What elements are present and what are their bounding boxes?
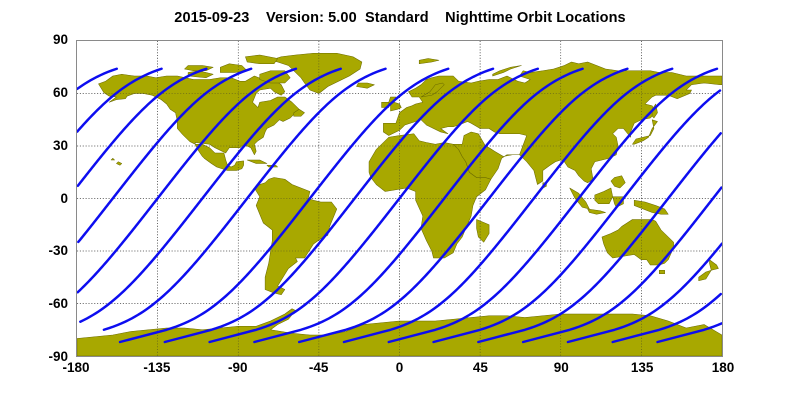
land-cuba [247,160,267,164]
land-iceland [357,83,375,88]
land-new-zealand-s [699,270,712,281]
land-svalbard [419,59,439,64]
plot-area [76,40,723,357]
y-tick-label: -60 [28,297,68,311]
land-japan [632,120,657,145]
y-tick-label: -30 [28,244,68,258]
orbit-map-figure: 2015-09-23 Version: 5.00 Standard Nightt… [0,0,800,400]
x-tick-label: -180 [46,361,106,375]
x-tick-label: -45 [289,361,349,375]
land-tasmania [659,270,664,274]
x-tick-label: -90 [208,361,268,375]
land-philippines [611,176,625,188]
x-tick-label: 90 [531,361,591,375]
y-tick-label: 0 [28,192,68,206]
land-novaya-zemlya [493,66,522,77]
y-tick-label: 90 [28,33,68,47]
land-java [588,209,606,214]
map-canvas [77,41,722,356]
y-tick-label: 30 [28,139,68,153]
x-tick-label: 180 [693,361,753,375]
x-tick-label: -135 [127,361,187,375]
land-sri-area [111,158,115,160]
figure-title: 2015-09-23 Version: 5.00 Standard Nightt… [0,10,800,26]
land-north-america [99,74,300,170]
x-tick-label: 45 [450,361,510,375]
land-new-zealand-n [709,260,718,271]
land-canada-arctic-3 [245,55,277,64]
x-tick-label: 135 [612,361,672,375]
land-canada-arctic-1 [185,66,214,71]
land-borneo [595,188,613,204]
land-new-guinea [634,200,668,214]
land-hawaii [116,162,121,166]
x-tick-label: 0 [370,361,430,375]
land-madagascar [477,220,490,243]
y-tick-label: 60 [28,86,68,100]
land-australia [602,220,674,266]
